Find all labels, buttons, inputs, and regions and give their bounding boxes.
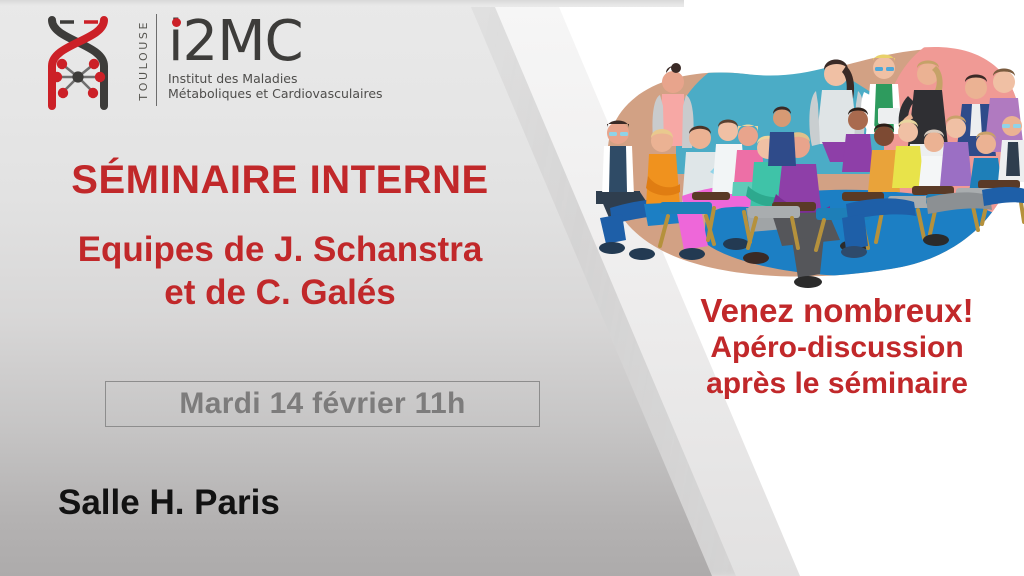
seminar-cta: Venez nombreux! Apéro-discussion après l… — [650, 292, 1024, 402]
seminar-date-label: Mardi 14 février 11h — [179, 387, 465, 421]
logo-subtitle: Institut des Maladies Métaboliques et Ca… — [168, 71, 383, 102]
seminar-room-label: Salle H. Paris — [58, 483, 280, 523]
logo-i-dot-icon — [172, 18, 181, 27]
cta-line-2: Apéro-discussion — [650, 330, 1024, 366]
seminar-teams: Equipes de J. Schanstra et de C. Galés — [0, 228, 560, 315]
cta-line-1: Venez nombreux! — [650, 292, 1024, 330]
seated-audience-crowd-illustration — [596, 0, 1024, 296]
dna-molecule-icon — [32, 14, 124, 112]
seminar-date-box: Mardi 14 février 11h — [105, 381, 540, 427]
logo-wordmark-text: i2MC — [168, 9, 303, 74]
logo-text-block: i2MC Institut des Maladies Métaboliques … — [168, 14, 383, 101]
seminar-team-line2: et de C. Galés — [0, 271, 560, 314]
logo-toulouse-text: TOULOUSE — [137, 20, 150, 101]
logo-subtitle-line2: Métaboliques et Cardiovasculaires — [168, 86, 383, 101]
logo-wordmark: i2MC — [168, 16, 383, 68]
logo-toulouse-label: TOULOUSE — [130, 14, 157, 106]
i2mc-logo: TOULOUSE i2MC Institut des Maladies Méta… — [32, 14, 392, 114]
seminar-team-line1: Equipes de J. Schanstra — [0, 228, 560, 271]
poster-canvas: TOULOUSE i2MC Institut des Maladies Méta… — [0, 0, 1024, 576]
cta-line-3: après le séminaire — [650, 366, 1024, 402]
seminar-headline: SÉMINAIRE INTERNE — [0, 158, 560, 203]
